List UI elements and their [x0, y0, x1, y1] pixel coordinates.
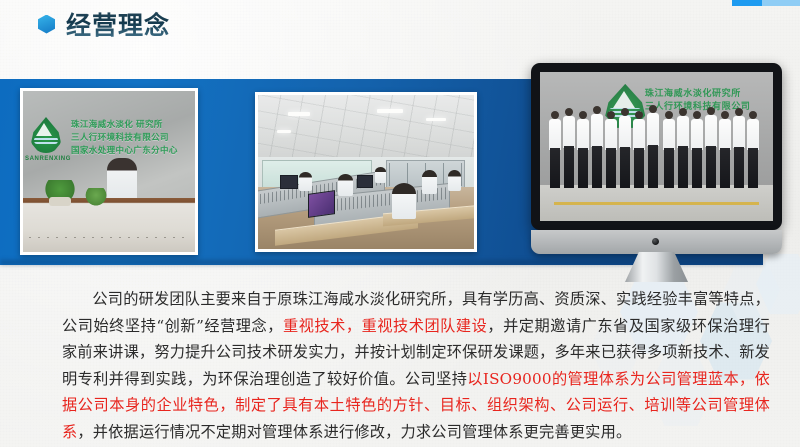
team-member: [747, 111, 759, 188]
office-worker: [392, 183, 416, 219]
team-member: [605, 111, 617, 188]
ceiling-light: [377, 109, 403, 113]
team-member: [691, 111, 703, 188]
team-member: [619, 108, 631, 188]
office-monitor: [308, 190, 335, 218]
office-worker: [422, 170, 437, 194]
monitor-power-indicator-icon: [652, 238, 659, 245]
company-logo-text: SANRENXING: [25, 156, 71, 162]
team-member: [733, 108, 745, 188]
office-photo-inner: [258, 95, 474, 249]
team-photo-monitor[interactable]: 珠江海威水淡化研究所 三人行环境科技有限公司: [531, 63, 782, 230]
paragraph-text: 经营理念，: [204, 317, 283, 335]
ceiling-light: [288, 112, 310, 116]
team-photo-floor: [540, 185, 773, 221]
office-worker: [299, 172, 312, 191]
office-monitor: [357, 175, 373, 188]
team-member: [563, 108, 575, 189]
team-member: [591, 106, 603, 188]
team-member: [677, 108, 689, 189]
page-title: 经营理念: [38, 6, 170, 42]
team-members-row: [540, 111, 773, 188]
page-title-label: 经营理念: [66, 6, 170, 42]
reception-desk: [23, 198, 195, 252]
office-worker: [338, 174, 353, 196]
team-member: [549, 111, 561, 188]
paragraph-text: “创新”: [156, 317, 204, 335]
wall-sign-line-3: 国家水处理中心广东分中心: [71, 144, 178, 157]
monitor-screen: 珠江海威水淡化研究所 三人行环境科技有限公司: [540, 72, 773, 221]
reception-plant: [43, 180, 77, 206]
office-workspace-photo[interactable]: [255, 92, 477, 252]
slide-root: 经营理念 SANRENXING 珠江海威水淡化 研究所 三人行环境科技有限公司 …: [0, 0, 800, 447]
reception-plant-small: [83, 188, 109, 206]
reception-wall-sign: 珠江海威水淡化 研究所 三人行环境科技有限公司 国家水处理中心广东分中心: [71, 118, 178, 157]
reception-staff-figure: [107, 158, 137, 202]
reception-photo-inner: SANRENXING 珠江海威水淡化 研究所 三人行环境科技有限公司 国家水处理…: [23, 91, 195, 252]
office-worker: [375, 167, 386, 183]
team-member: [633, 111, 645, 188]
wall-sign-line-2: 三人行环境科技有限公司: [71, 131, 178, 144]
hexagon-bullet-icon: [38, 15, 55, 34]
reception-lobby-photo[interactable]: SANRENXING 珠江海威水淡化 研究所 三人行环境科技有限公司 国家水处理…: [20, 88, 198, 255]
office-ceiling: [258, 95, 474, 160]
team-member: [577, 111, 589, 188]
team-member: [647, 105, 661, 189]
office-monitor: [280, 175, 298, 189]
office-worker: [448, 170, 461, 191]
team-member: [719, 111, 731, 188]
team-member: [705, 107, 717, 188]
top-right-accent-bar: [732, 0, 800, 6]
ceiling-light: [426, 118, 446, 121]
wall-sign-line-1: 珠江海威水淡化 研究所: [71, 118, 178, 131]
team-member: [663, 111, 675, 188]
team-sign-line-1: 珠江海威水淡化研究所: [645, 87, 751, 100]
paragraph-highlight-text: 重视技术，重视技术团队建设: [283, 317, 487, 335]
body-paragraph: 公司的研发团队主要来自于原珠江海咸水淡化研究所，具有学历高、资质深、实践经验丰富…: [62, 286, 770, 445]
paragraph-text: ，并依据运行情况不定期对管理体系进行修改，力求公司管理体系更完善更实用。: [77, 423, 631, 441]
ceiling-light: [277, 130, 291, 133]
